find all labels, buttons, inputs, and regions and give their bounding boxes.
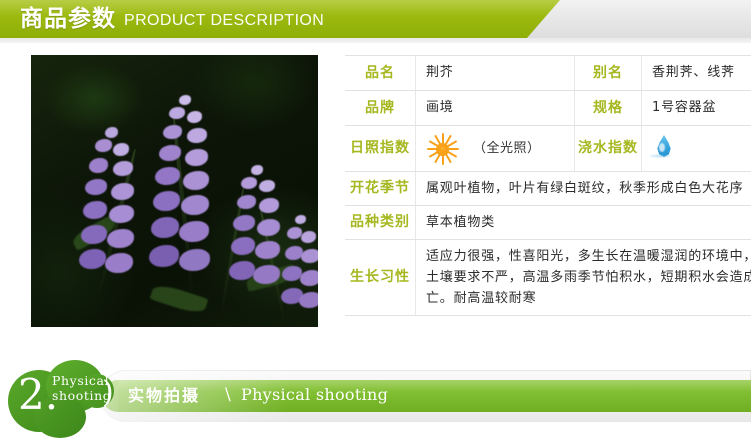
- bottom-section-banner: 实物拍摄 \ Physical shooting 2. Physical sho…: [0, 358, 751, 434]
- section-number-badge: 2. Physical shooting ): [8, 360, 126, 434]
- spec-value-alias: 香荆荠、线荠: [642, 56, 751, 91]
- photo-flower-spike: [151, 95, 231, 295]
- sun-icon: [426, 134, 460, 164]
- bottom-bar-separator: \: [225, 384, 231, 406]
- spec-value-brand: 画境: [416, 91, 575, 126]
- spec-value-watering-index: [642, 126, 751, 172]
- bottom-bar-title-cn: 实物拍摄: [128, 385, 200, 407]
- photo-flower-spike: [279, 215, 318, 325]
- spec-label-sunlight-index: 日照指数: [345, 126, 416, 172]
- table-row: 品牌 画境 规格 1号容器盆: [345, 91, 751, 126]
- spec-value-growth-habit: 适应力很强，性喜阳光，多生长在温暖湿润的环境中，对土壤要求不严，高温多雨季节怕积…: [416, 240, 751, 316]
- page-title-cn: 商品参数: [20, 5, 116, 33]
- spec-label-blooming-season: 开花季节: [345, 172, 416, 206]
- bottom-bar-title-en: Physical shooting: [241, 384, 388, 406]
- photo-flower-spike: [83, 125, 153, 295]
- bottom-bar-green: [118, 380, 751, 412]
- spec-label-brand: 品牌: [345, 91, 416, 126]
- spec-value-sunlight-index: （全光照）: [416, 126, 575, 172]
- product-photo: [31, 55, 318, 327]
- spec-value-product-name: 荆芥: [416, 56, 575, 91]
- spec-value-blooming-season: 属观叶植物，叶片有绿白斑纹，秋季形成白色大花序: [416, 172, 751, 206]
- spec-label-alias: 别名: [575, 56, 642, 91]
- product-spec-table: 品名 荆芥 别名 香荆荠、线荠 品牌 画境 规格 1号容器盆 日照指数: [345, 55, 751, 316]
- spec-value-sunlight-note: （全光照）: [473, 139, 541, 159]
- table-row: 开花季节 属观叶植物，叶片有绿白斑纹，秋季形成白色大花序: [345, 172, 751, 206]
- table-row: 日照指数 （全光照）: [345, 126, 751, 172]
- header-grey-underline: [0, 38, 751, 43]
- page-title-en: PRODUCT DESCRIPTION: [124, 11, 324, 31]
- spec-label-watering-index: 浇水指数: [575, 126, 642, 172]
- spec-label-growth-habit: 生长习性: [345, 240, 416, 316]
- table-row: 品种类别 草本植物类: [345, 206, 751, 240]
- table-row: 生长习性 适应力很强，性喜阳光，多生长在温暖湿润的环境中，对土壤要求不严，高温多…: [345, 240, 751, 316]
- badge-paren-decoration: ): [102, 378, 114, 408]
- spec-label-specification: 规格: [575, 91, 642, 126]
- spec-value-specification: 1号容器盆: [642, 91, 751, 126]
- table-row: 品名 荆芥 别名 香荆荠、线荠: [345, 56, 751, 91]
- page-header-banner: 商品参数 PRODUCT DESCRIPTION: [0, 0, 751, 44]
- spec-label-product-name: 品名: [345, 56, 416, 91]
- water-drop-icon: [652, 133, 676, 159]
- spec-label-variety-category: 品种类别: [345, 206, 416, 240]
- badge-en-line1: Physical: [52, 373, 109, 388]
- spec-value-variety-category: 草本植物类: [416, 206, 751, 240]
